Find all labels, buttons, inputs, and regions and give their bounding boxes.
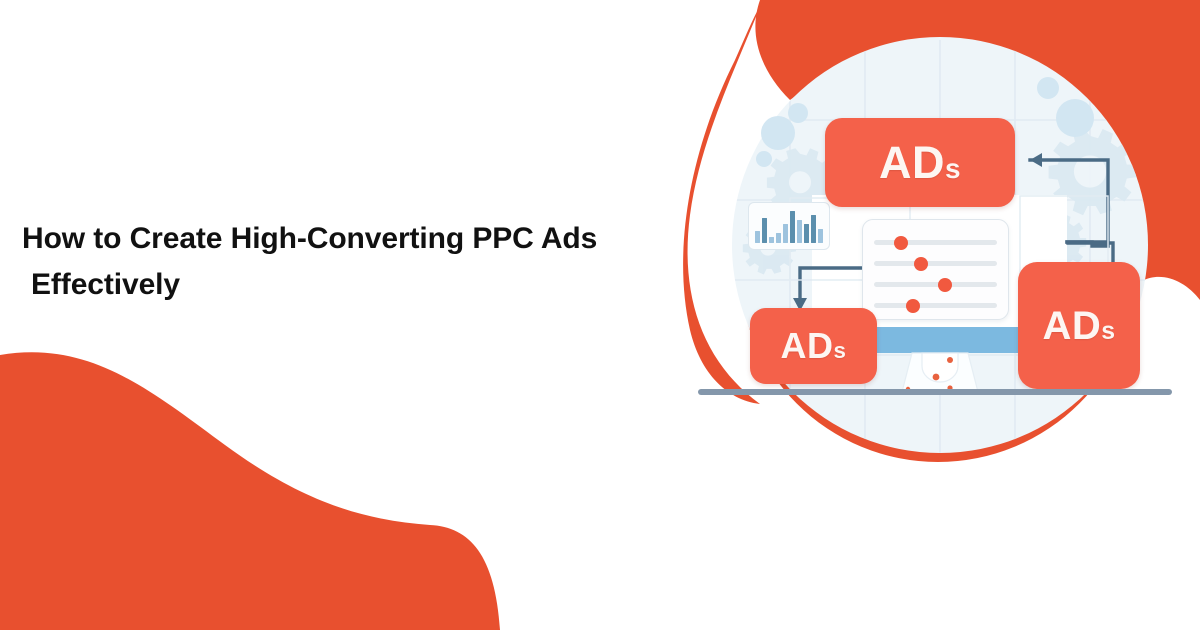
slider-track[interactable] [874, 303, 997, 308]
ads-chip-right-label: ADs [1042, 306, 1115, 346]
slider-knob[interactable] [894, 236, 908, 250]
ads-chip-bottom-left[interactable]: ADs [750, 308, 877, 384]
ground-baseline [698, 389, 1172, 395]
bar-chart-bar [818, 229, 823, 243]
slider-track[interactable] [874, 240, 997, 245]
bar-chart-bar [755, 231, 760, 243]
page-title-line-1: How to Create High-Converting PPC Ads [22, 222, 597, 255]
slider-knob[interactable] [938, 278, 952, 292]
settings-slider-card [862, 219, 1009, 320]
bar-chart-bar [797, 220, 802, 243]
ppc-ads-flow-illustration: ADs ADs ADs [660, 0, 1200, 470]
ads-chip-top[interactable]: ADs [825, 118, 1015, 207]
analytics-bar-chart-widget [748, 202, 830, 250]
ads-chip-right[interactable]: ADs [1018, 262, 1140, 389]
bar-chart-bars [755, 211, 823, 243]
banner-canvas: How to Create High-Converting PPC Ads Ef… [0, 0, 1200, 630]
bar-chart-bar [811, 215, 816, 243]
slider-knob[interactable] [906, 299, 920, 313]
slider-track[interactable] [874, 261, 997, 266]
ads-chip-top-label: ADs [879, 140, 961, 185]
bar-chart-bar [783, 224, 788, 243]
bar-chart-bar [769, 237, 774, 243]
slider-knob[interactable] [914, 257, 928, 271]
blob-bottom-left [0, 352, 500, 630]
page-title-line-2: Effectively [22, 262, 642, 308]
page-title: How to Create High-Converting PPC Ads Ef… [22, 216, 642, 307]
bar-chart-bar [804, 224, 809, 243]
bar-chart-bar [776, 233, 781, 243]
bar-chart-bar [762, 218, 767, 243]
ads-chip-bottom-left-label: ADs [781, 328, 847, 364]
slider-track[interactable] [874, 282, 997, 287]
bar-chart-bar [790, 211, 795, 243]
